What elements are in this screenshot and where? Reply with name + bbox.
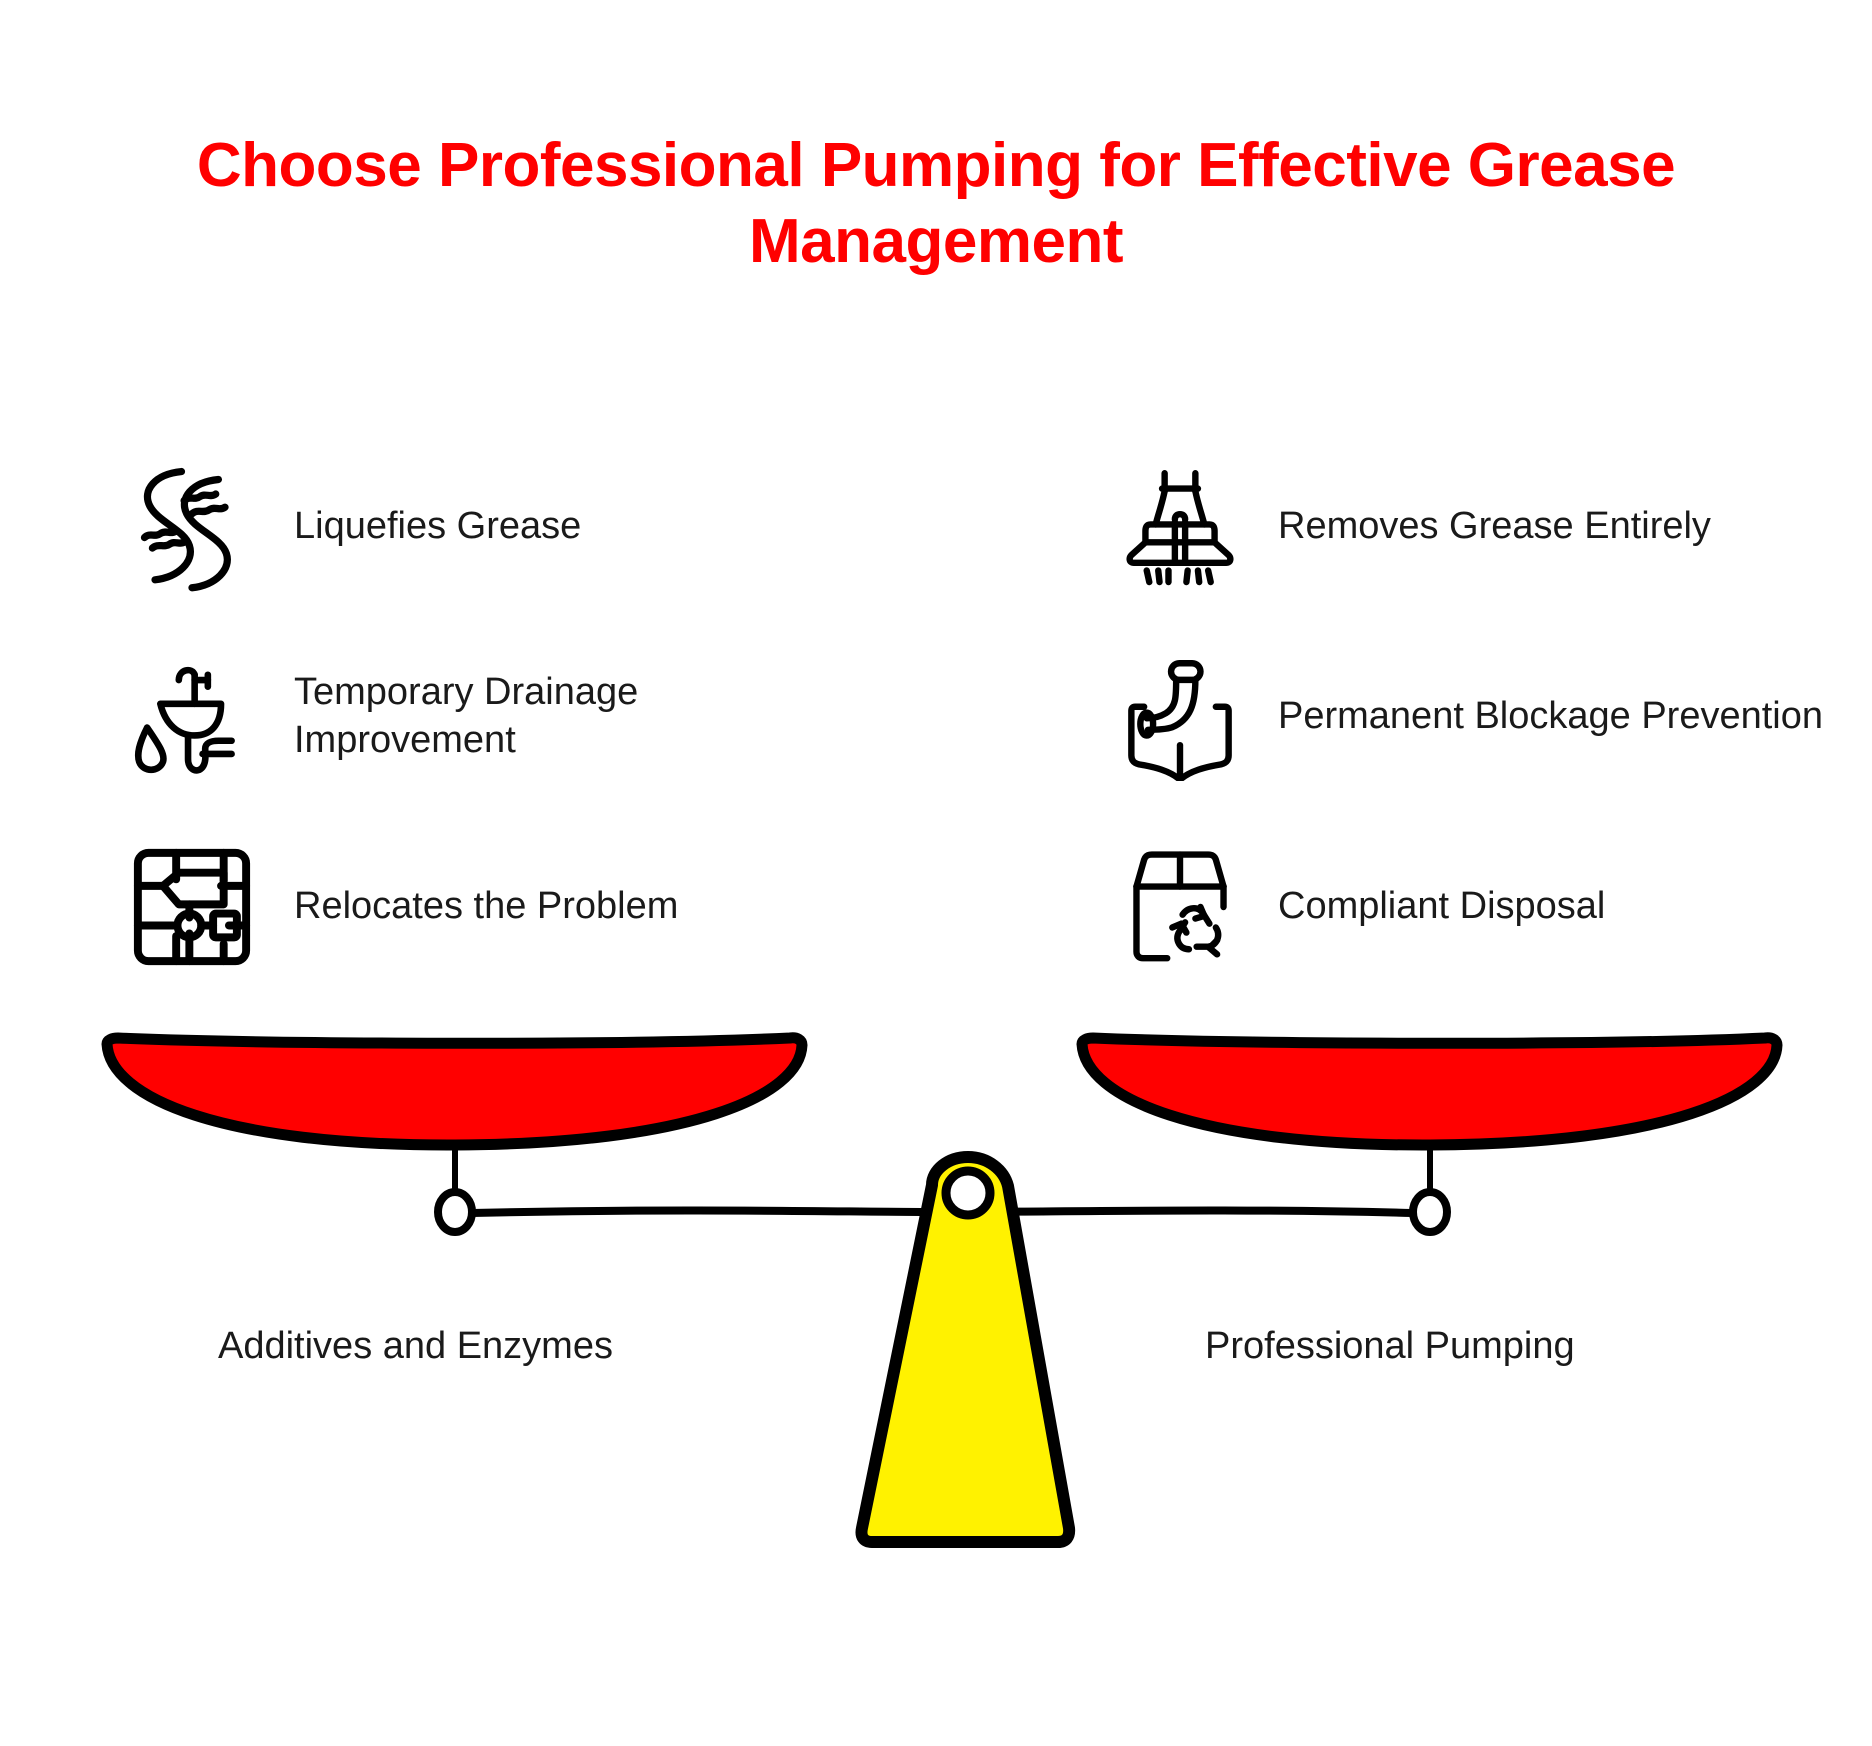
feature-item-permanent-blockage: Permanent Blockage Prevention (1110, 642, 1850, 792)
vacuum-suction-nozzle-icon (1110, 453, 1250, 601)
right-pan (1082, 1038, 1777, 1145)
balance-scale (0, 1000, 1872, 1600)
left-pan-caption: Additives and Enzymes (218, 1325, 613, 1368)
feature-label: Temporary Drainage Improvement (266, 669, 858, 765)
left-pan-ring (438, 1192, 472, 1232)
page-title: Choose Professional Pumping for Effectiv… (56, 128, 1816, 279)
feature-label: Compliant Disposal (1250, 883, 1605, 931)
fulcrum-pivot-hole (946, 1171, 990, 1215)
feature-item-temporary-drainage: Temporary Drainage Improvement (118, 642, 858, 792)
sink-drain-drip-icon (118, 643, 266, 791)
pipe-network-map-icon (118, 833, 266, 981)
pipe-trap-bend-icon (1110, 643, 1250, 791)
feature-label: Permanent Blockage Prevention (1250, 693, 1823, 741)
flowing-liquid-icon (118, 453, 266, 601)
feature-item-liquefies-grease: Liquefies Grease (118, 452, 858, 602)
right-feature-column: Removes Grease Entirely Permanent Blocka… (1110, 452, 1850, 1022)
box-recycle-icon (1110, 833, 1250, 981)
right-pan-caption: Professional Pumping (1205, 1325, 1575, 1368)
right-pan-ring (1413, 1192, 1447, 1232)
feature-label: Relocates the Problem (266, 883, 678, 931)
feature-item-compliant-disposal: Compliant Disposal (1110, 832, 1850, 982)
feature-label: Liquefies Grease (266, 503, 581, 551)
left-feature-column: Liquefies Grease Temporary Drainage Impr… (118, 452, 858, 1022)
feature-label: Removes Grease Entirely (1250, 503, 1711, 551)
left-pan (107, 1038, 802, 1145)
feature-item-removes-grease: Removes Grease Entirely (1110, 452, 1850, 602)
feature-item-relocates-problem: Relocates the Problem (118, 832, 858, 982)
